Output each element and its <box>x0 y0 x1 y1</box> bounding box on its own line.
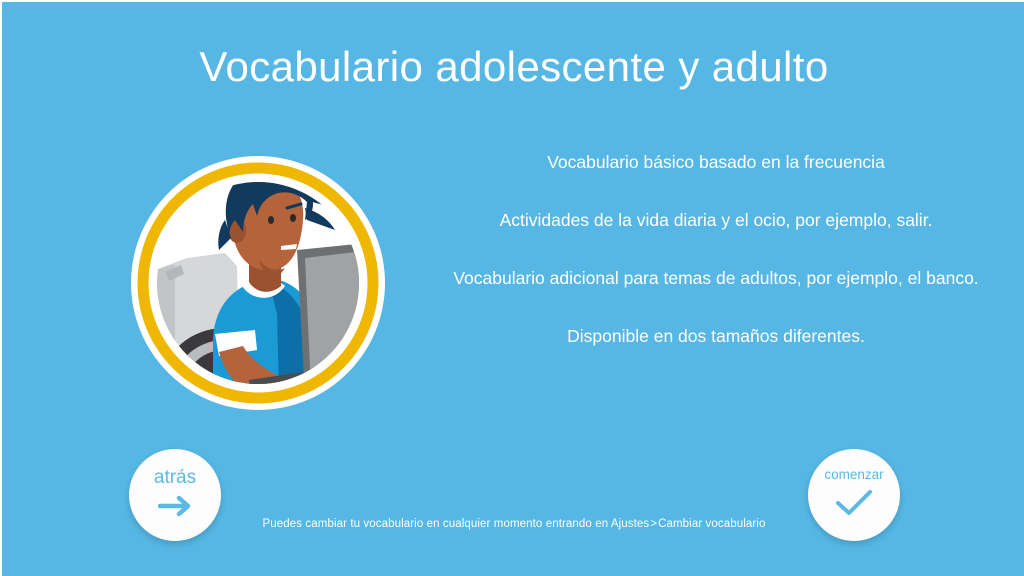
feature-list: Vocabulario básico basado en la frecuenc… <box>406 152 1024 347</box>
back-button-label: atrás <box>154 468 196 487</box>
footer-hint-text: Puedes cambiar tu vocabulario en cualqui… <box>263 518 650 530</box>
feature-line-4: Disponible en dos tamaños diferentes. <box>406 326 1024 347</box>
start-button-label: comenzar <box>824 468 883 482</box>
eye-right <box>290 214 296 222</box>
footer-separator-icon: > <box>650 518 657 530</box>
feature-line-1: Vocabulario básico basado en la frecuenc… <box>406 152 1024 173</box>
eye-left <box>268 216 274 224</box>
person-in-wheelchair-illustration <box>129 154 387 412</box>
feature-line-3: Vocabulario adicional para temas de adul… <box>406 268 1024 289</box>
illustration-vocabulary-user <box>129 154 387 412</box>
onboarding-screen: Vocabulario adolescente y adulto <box>0 0 1024 576</box>
feature-line-2: Actividades de la vida diaria y el ocio,… <box>406 210 1024 231</box>
page-title: Vocabulario adolescente y adulto <box>2 44 1024 90</box>
footer-hint-target: Cambiar vocabulario <box>658 518 765 530</box>
footer-hint: Puedes cambiar tu vocabulario en cualqui… <box>2 518 1024 530</box>
